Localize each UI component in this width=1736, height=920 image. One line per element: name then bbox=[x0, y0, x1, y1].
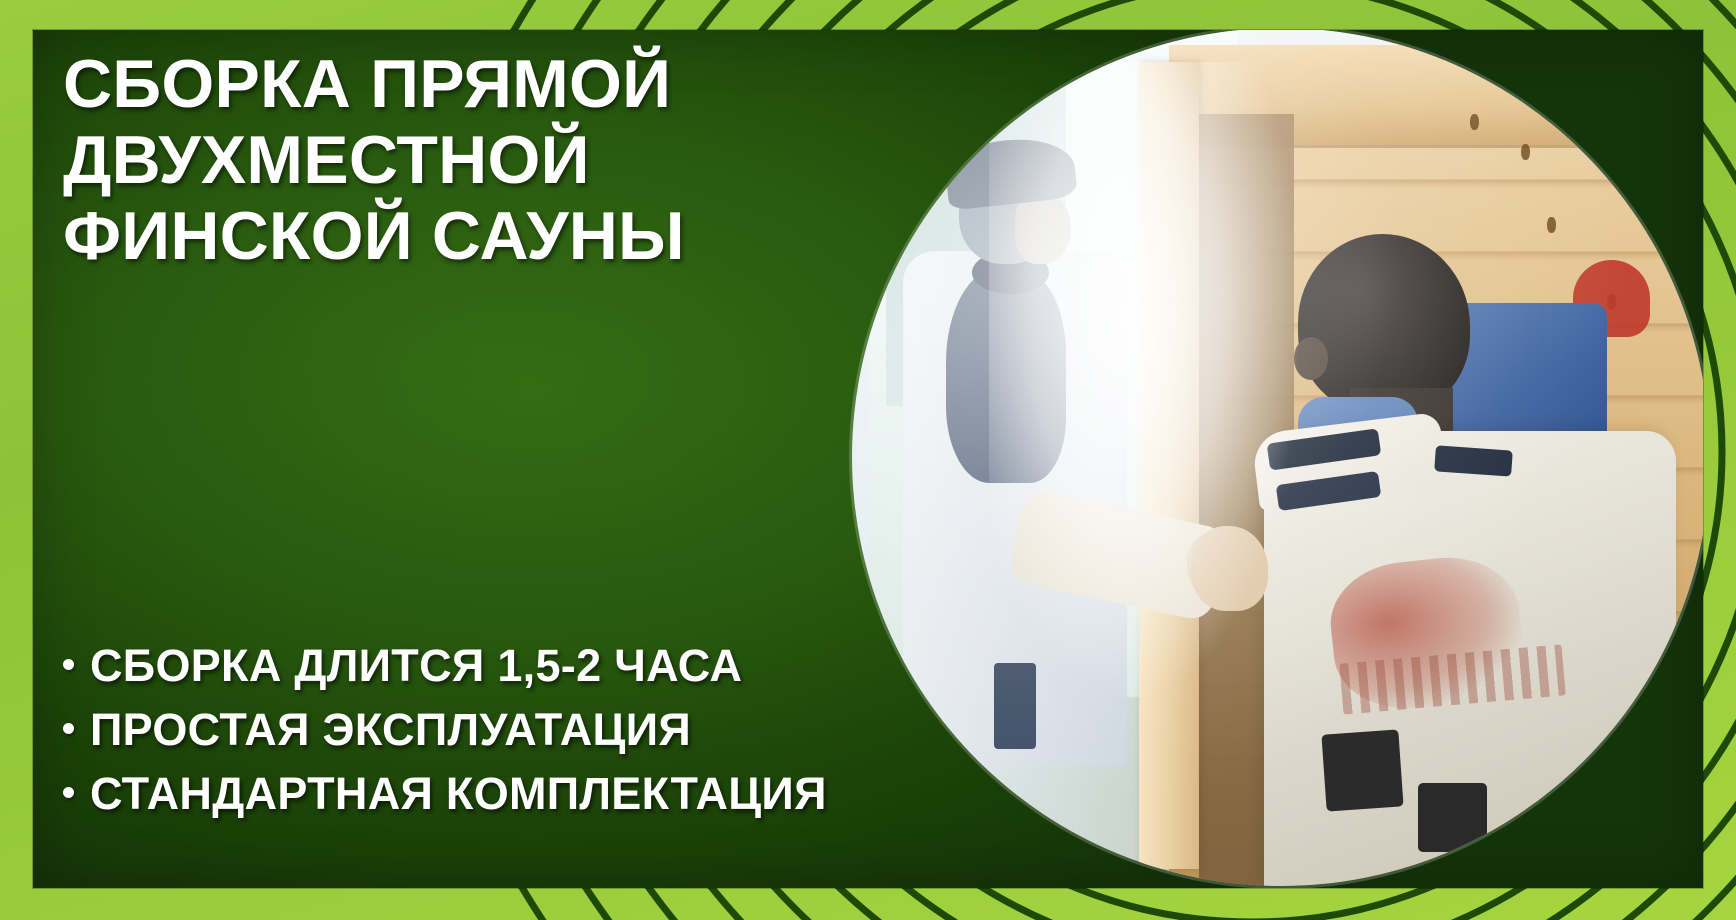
list-item: СТАНДАРТНАЯ КОМПЛЕКТАЦИЯ bbox=[63, 762, 827, 826]
sauna-assembly-photo: Два монтажника собирают деревянную финск… bbox=[852, 30, 1703, 886]
headline-line-2: ДВУХМЕСТНОЙ bbox=[63, 122, 893, 198]
photo-wood-knot bbox=[1470, 114, 1479, 130]
page-title: СБОРКА ПРЯМОЙ ДВУХМЕСТНОЙ ФИНСКОЙ САУНЫ bbox=[63, 46, 893, 274]
content-panel: СБОРКА ПРЯМОЙ ДВУХМЕСТНОЙ ФИНСКОЙ САУНЫ … bbox=[33, 30, 1703, 888]
photo-worker-right-ear bbox=[1294, 337, 1328, 380]
photo-worker-right-pocket bbox=[1418, 783, 1487, 852]
list-item: ПРОСТАЯ ЭКСПЛУАТАЦИЯ bbox=[63, 698, 827, 762]
photo-worker-right-pocket bbox=[1321, 729, 1403, 811]
bullet-label: ПРОСТАЯ ЭКСПЛУАТАЦИЯ bbox=[90, 698, 691, 762]
bullet-label: СБОРКА ДЛИТСЯ 1,5-2 ЧАСА bbox=[90, 634, 742, 698]
photo-worker-right-head bbox=[1298, 234, 1470, 414]
promo-banner: СБОРКА ПРЯМОЙ ДВУХМЕСТНОЙ ФИНСКОЙ САУНЫ … bbox=[0, 0, 1736, 920]
headline-line-3: ФИНСКОЙ САУНЫ bbox=[63, 198, 893, 274]
bullet-dot-icon bbox=[63, 787, 74, 798]
photo-scene bbox=[852, 30, 1703, 886]
feature-bullet-list: СБОРКА ДЛИТСЯ 1,5-2 ЧАСА ПРОСТАЯ ЭКСПЛУА… bbox=[63, 634, 827, 826]
bullet-dot-icon bbox=[63, 659, 74, 670]
photo-window-glare bbox=[989, 62, 1298, 697]
photo-wood-knot bbox=[1521, 144, 1530, 160]
bullet-dot-icon bbox=[63, 723, 74, 734]
list-item: СБОРКА ДЛИТСЯ 1,5-2 ЧАСА bbox=[63, 634, 827, 698]
bullet-label: СТАНДАРТНАЯ КОМПЛЕКТАЦИЯ bbox=[90, 762, 827, 826]
photo-wood-knot bbox=[1547, 217, 1556, 233]
headline-line-1: СБОРКА ПРЯМОЙ bbox=[63, 46, 893, 122]
